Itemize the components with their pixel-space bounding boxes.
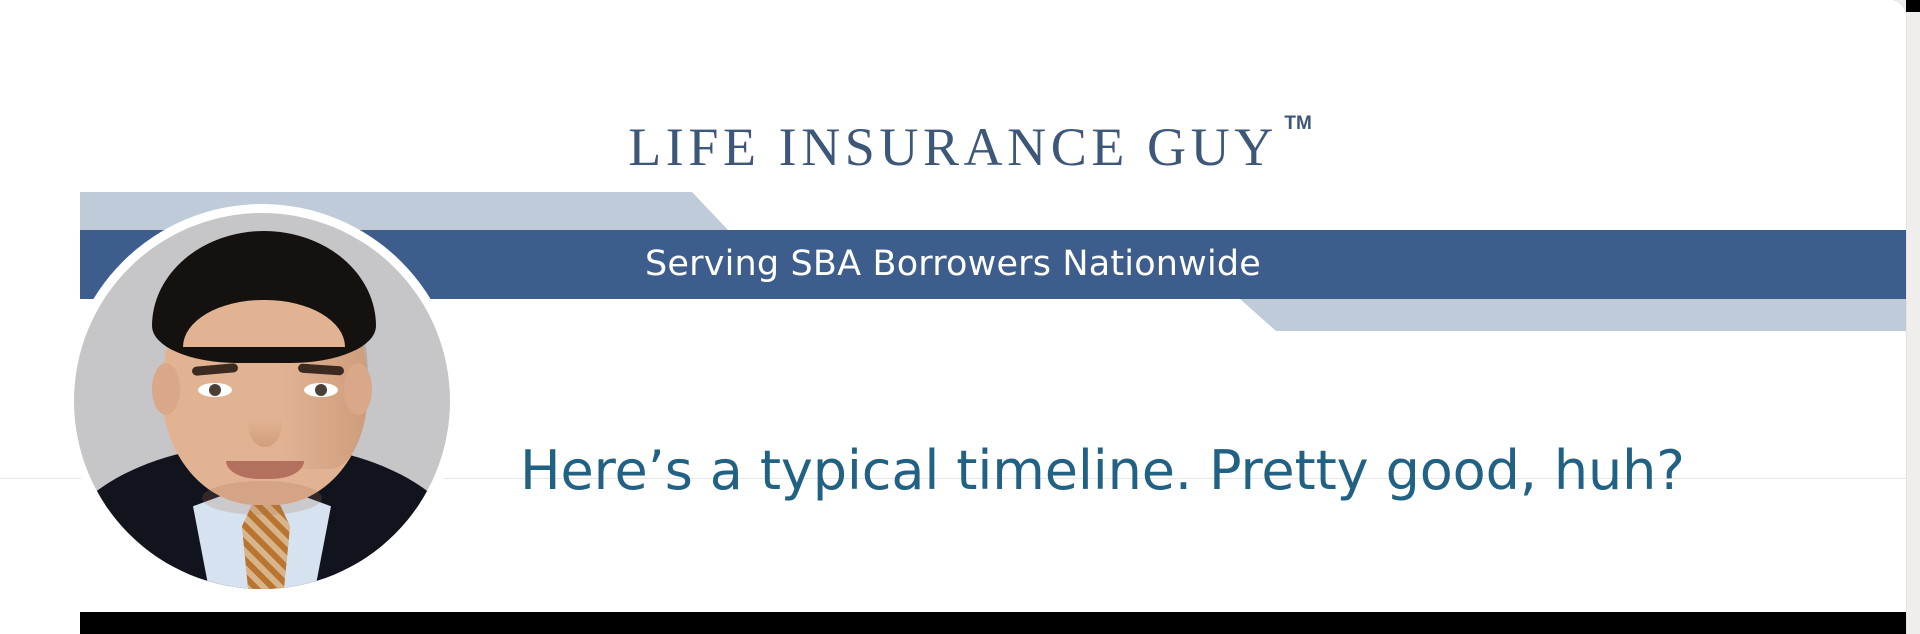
slide-viewport: LIFE INSURANCE GUYTM Serving SBA Borrowe… <box>0 0 1920 634</box>
avatar-eye-right <box>304 383 338 397</box>
slide-footer-bar <box>80 612 1906 634</box>
avatar-hair <box>152 231 376 363</box>
slide-canvas: LIFE INSURANCE GUYTM Serving SBA Borrowe… <box>0 0 1906 634</box>
banner-light-bar-top <box>80 192 1906 230</box>
slide-corner-marker <box>1906 0 1920 12</box>
avatar-eye-left <box>198 383 232 397</box>
slide-headline: Here’s a typical timeline. Pretty good, … <box>520 443 1820 500</box>
avatar-nose <box>248 399 282 447</box>
avatar <box>74 213 450 589</box>
avatar-ear-left <box>152 363 180 415</box>
avatar-chin-shading <box>202 481 322 515</box>
avatar-ear-right <box>344 363 372 415</box>
